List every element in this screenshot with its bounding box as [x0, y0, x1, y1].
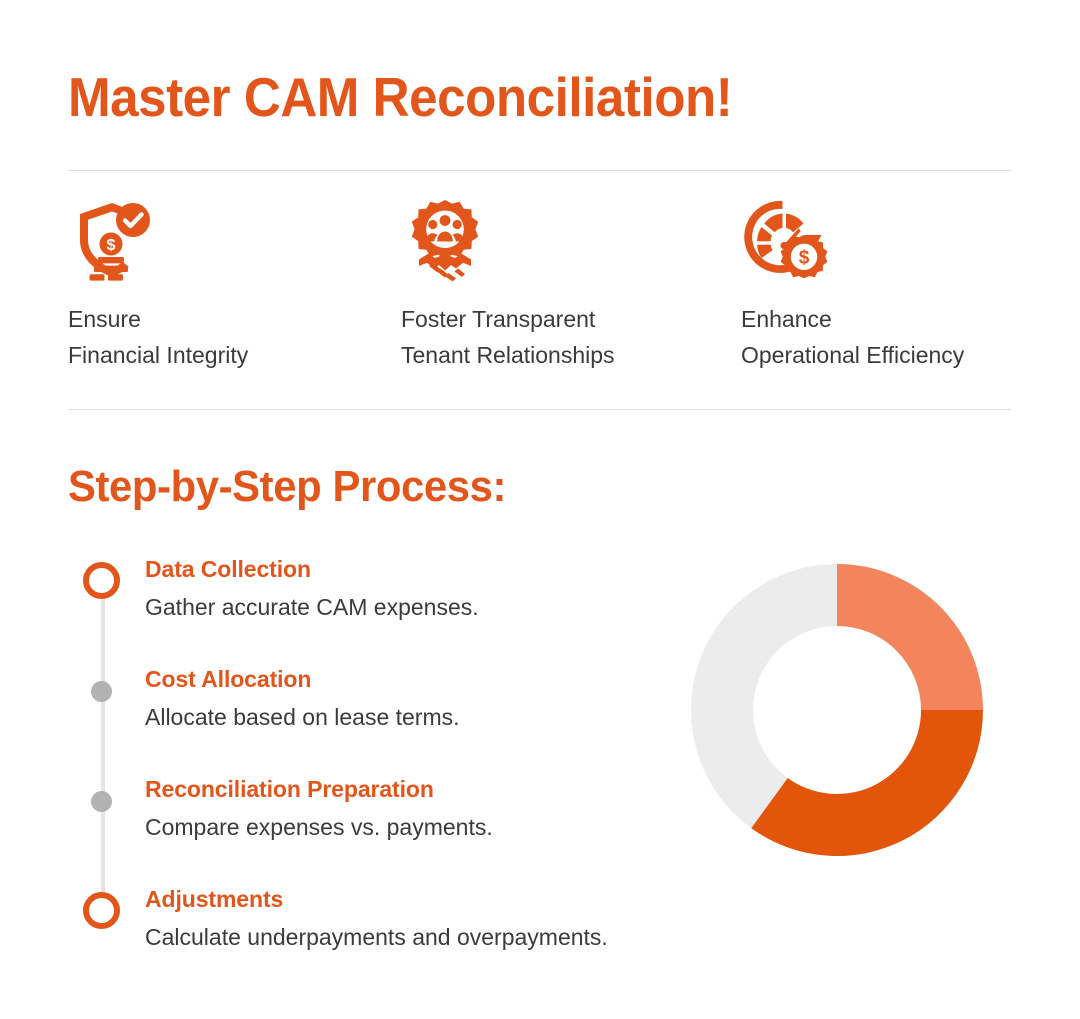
- step-description: Calculate underpayments and overpayments…: [145, 923, 688, 952]
- step-title: Reconciliation Preparation: [145, 776, 688, 804]
- feature-row: $ Ensure Financial Integrity: [68, 196, 1011, 373]
- svg-text:$: $: [107, 237, 116, 254]
- feature-label: Ensure Financial Integrity: [68, 302, 401, 373]
- gear-people-handshake-icon: [401, 196, 741, 288]
- feature-label: Foster Transparent Tenant Relationships: [401, 302, 741, 373]
- speedometer-gear-dollar-icon: $: [741, 196, 1011, 288]
- svg-text:$: $: [799, 248, 810, 269]
- feature-item-tenant-relationships: Foster Transparent Tenant Relationships: [401, 196, 741, 373]
- timeline-step: Reconciliation Preparation Compare expen…: [68, 776, 688, 886]
- timeline-step: Cost Allocation Allocate based on lease …: [68, 666, 688, 776]
- step-title: Data Collection: [145, 556, 688, 584]
- divider-bottom: [68, 409, 1011, 410]
- step-title: Adjustments: [145, 886, 688, 914]
- step-marker-dot-icon: [68, 672, 136, 712]
- step-marker-ring-icon: [68, 892, 136, 932]
- feature-item-financial-integrity: $ Ensure Financial Integrity: [68, 196, 401, 373]
- feature-label: Enhance Operational Efficiency: [741, 302, 1011, 373]
- donut-segment: [691, 564, 837, 828]
- step-description: Allocate based on lease terms.: [145, 703, 688, 732]
- timeline-step: Adjustments Calculate underpayments and …: [68, 886, 688, 951]
- process-heading: Step-by-Step Process:: [68, 463, 506, 511]
- divider-top: [68, 170, 1011, 171]
- donut-segment: [837, 564, 983, 710]
- shield-check-coins-icon: $: [68, 196, 401, 288]
- page-title: Master CAM Reconciliation!: [68, 68, 732, 126]
- step-description: Compare expenses vs. payments.: [145, 813, 688, 842]
- step-description: Gather accurate CAM expenses.: [145, 593, 688, 622]
- timeline-step: Data Collection Gather accurate CAM expe…: [68, 556, 688, 666]
- feature-item-operational-efficiency: $ Enhance Operational Efficiency: [741, 196, 1011, 373]
- donut-segment: [751, 710, 983, 856]
- step-marker-dot-icon: [68, 782, 136, 822]
- donut-chart: [691, 564, 983, 856]
- infographic-page: Master CAM Reconciliation! $: [0, 0, 1080, 1019]
- step-title: Cost Allocation: [145, 666, 688, 694]
- step-marker-ring-icon: [68, 562, 136, 602]
- process-timeline: Data Collection Gather accurate CAM expe…: [68, 556, 688, 951]
